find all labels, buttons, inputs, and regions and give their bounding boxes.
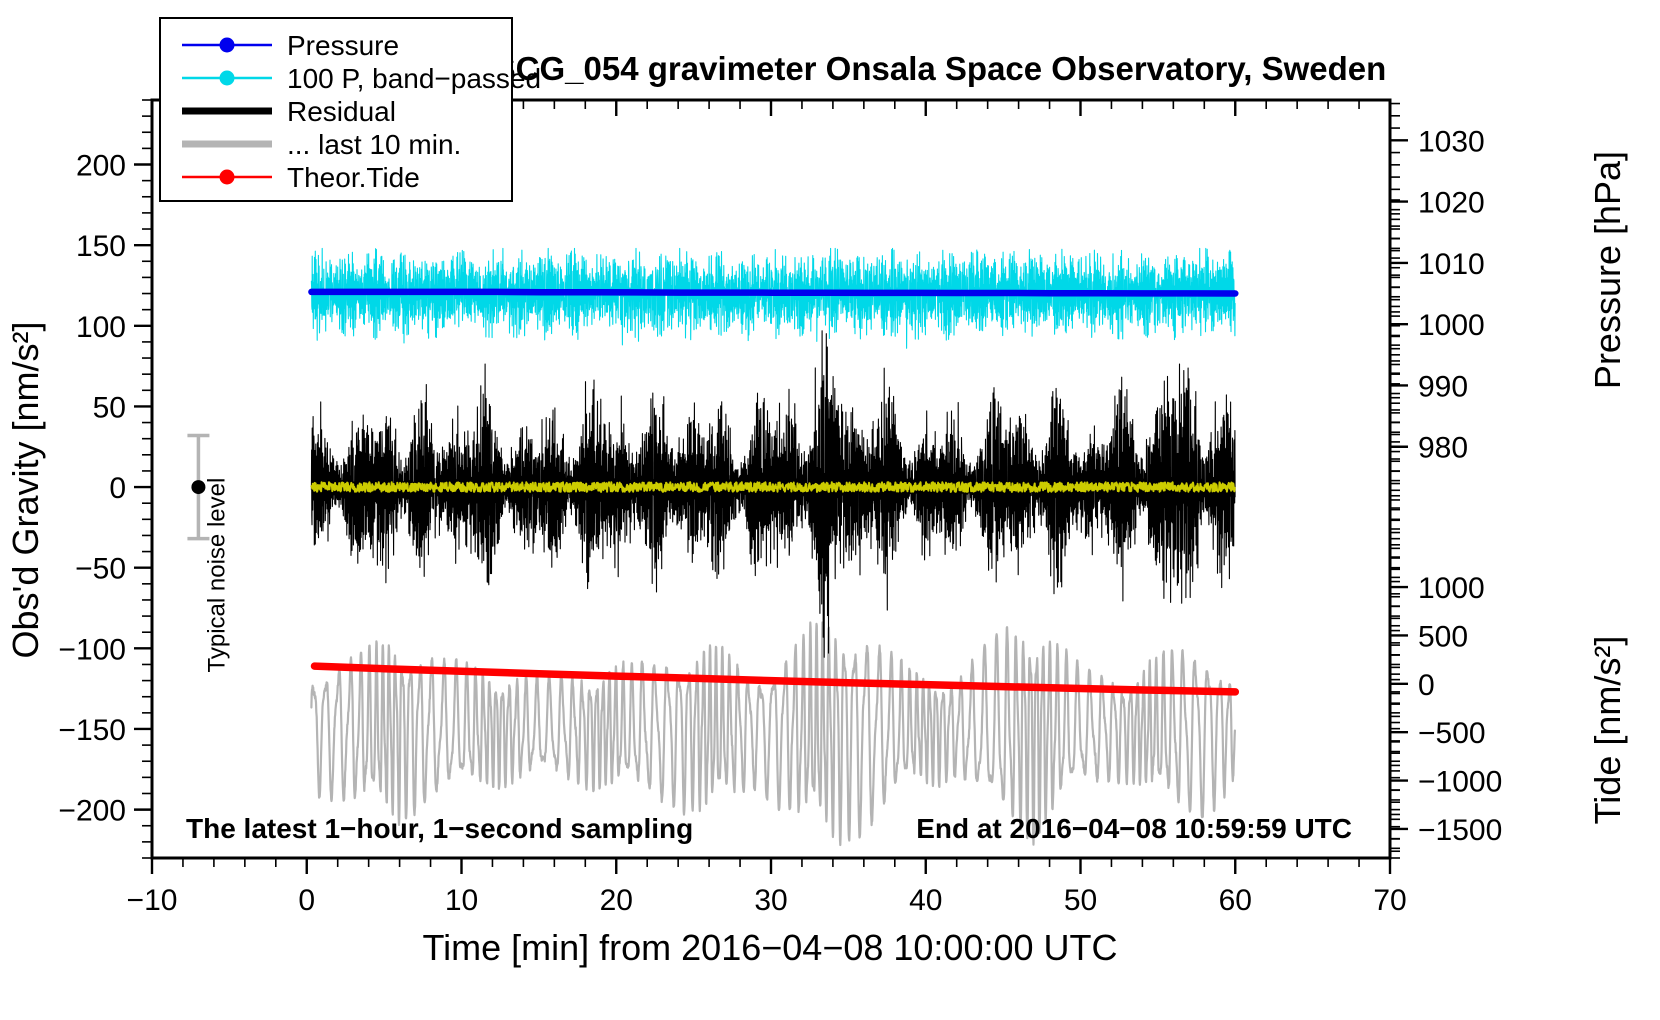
y-right-pressure-tick-label: 1000 [1418, 309, 1485, 342]
y-right-tide-axis-label: Tide [nm/s²] [1587, 636, 1628, 825]
y-right-pressure-tick-label: 1030 [1418, 125, 1485, 158]
y-left-tick-label: −100 [58, 633, 126, 666]
y-right-tide-tick-label: 0 [1418, 669, 1435, 702]
legend-swatch-marker [220, 38, 235, 53]
y-right-pressure-tick-label: 1020 [1418, 187, 1485, 220]
series-pressure [311, 292, 1235, 294]
y-right-pressure-axis-label: Pressure [hPa] [1587, 151, 1628, 389]
y-right-tide-tick-label: 1000 [1418, 572, 1485, 605]
legend-swatch-marker [220, 71, 235, 86]
footer-right-note: End at 2016−04−08 10:59:59 UTC [916, 813, 1352, 844]
x-tick-label: 40 [909, 884, 942, 917]
legend-item-label: Pressure [287, 30, 399, 61]
x-tick-label: 10 [445, 884, 478, 917]
chart-page: −10010203040506070 200150100500−50−100−1… [0, 0, 1660, 1020]
legend-item-label: Residual [287, 96, 396, 127]
y-left-tick-label: 150 [76, 230, 126, 263]
y-right-tide-tick-label: −500 [1418, 717, 1486, 750]
footer-left-note: The latest 1−hour, 1−second sampling [186, 813, 693, 844]
y-right-tide-tick-label: −1000 [1418, 766, 1502, 799]
x-tick-label: 70 [1373, 884, 1406, 917]
y-right-pressure-tick-label: 980 [1418, 432, 1468, 465]
legend-item-label: ... last 10 min. [287, 129, 461, 160]
x-tick-label: −10 [127, 884, 178, 917]
legend-item-label: 100 P, band−passed [287, 63, 541, 94]
noise-level-label: Typical noise level [203, 478, 230, 673]
x-tick-label: 0 [298, 884, 315, 917]
legend-item-label: Theor.Tide [287, 162, 420, 193]
x-tick-label: 60 [1219, 884, 1252, 917]
y-left-tick-label: −150 [58, 714, 126, 747]
y-left-tick-label: 200 [76, 150, 126, 183]
x-tick-label: 20 [600, 884, 633, 917]
y-left-tick-label: 50 [93, 391, 126, 424]
page-title: SCG_054 gravimeter Onsala Space Observat… [494, 50, 1387, 87]
y-left-axis-label: Obs'd Gravity [nm/s²] [5, 322, 46, 659]
y-left-tick-label: −200 [58, 795, 126, 828]
y-left-tick-label: 100 [76, 311, 126, 344]
y-left-tick-label: −50 [75, 553, 126, 586]
gravimeter-chart: −10010203040506070 200150100500−50−100−1… [0, 0, 1660, 1020]
y-right-pressure-tick-label: 1010 [1418, 248, 1485, 281]
x-tick-label: 50 [1064, 884, 1097, 917]
x-tick-label: 30 [754, 884, 787, 917]
y-left-tick-label: 0 [109, 472, 126, 505]
legend[interactable]: Pressure100 P, band−passedResidual... la… [160, 18, 541, 201]
y-right-tide-tick-label: 500 [1418, 620, 1468, 653]
legend-swatch-marker [220, 170, 235, 185]
x-axis-label: Time [min] from 2016−04−08 10:00:00 UTC [422, 927, 1117, 968]
y-right-pressure-tick-label: 990 [1418, 370, 1468, 403]
y-right-tide-tick-label: −1500 [1418, 814, 1502, 847]
